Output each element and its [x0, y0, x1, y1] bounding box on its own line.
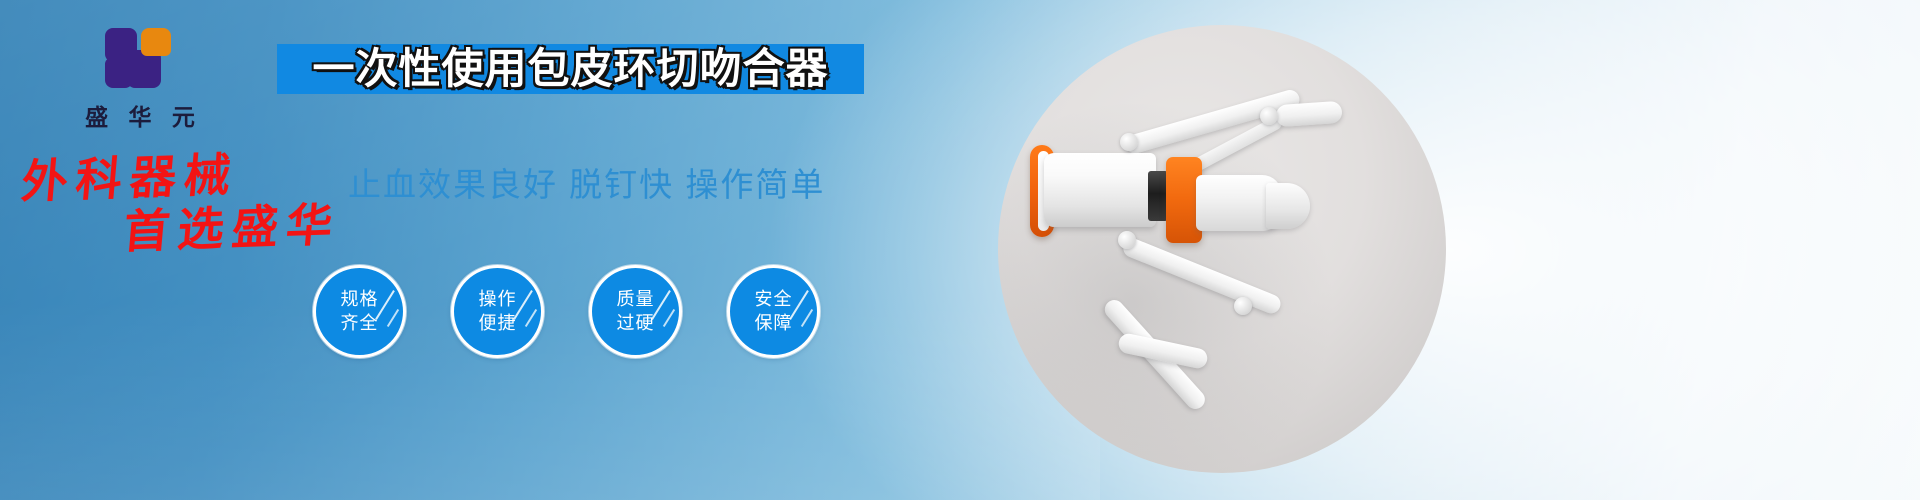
subheading: 止血效果良好 脱钉快 操作简单 — [348, 168, 825, 201]
slogan-line-1: 外科器械 — [20, 151, 241, 205]
product-photo — [998, 25, 1446, 473]
brand-logo[interactable]: 盛 华 元 — [70, 28, 210, 132]
page-title: 一次性使用包皮环切吻合器 — [312, 48, 828, 90]
device-tip — [1266, 183, 1310, 229]
feature-badge-line1: 安全 — [755, 288, 793, 312]
slogan-line-2: 首选盛华 — [122, 201, 343, 255]
feature-badge[interactable]: 操作 便捷 — [451, 265, 544, 358]
device-pivot — [1120, 133, 1138, 151]
brand-name: 盛 华 元 — [70, 98, 210, 132]
feature-badge[interactable]: 安全 保障 — [727, 265, 820, 358]
feature-badge[interactable]: 质量 过硬 — [589, 265, 682, 358]
feature-badge-line1: 操作 — [479, 288, 517, 312]
slash-decor-icon — [663, 309, 675, 327]
feature-badge-line2: 过硬 — [617, 312, 655, 336]
slash-decor-icon — [387, 309, 399, 327]
slash-decor-icon — [801, 309, 813, 327]
product-title-banner: 一次性使用包皮环切吻合器 — [277, 44, 864, 94]
device-pivot — [1234, 297, 1252, 315]
stapler-device-illustration — [998, 25, 1446, 473]
feature-badge-line2: 齐全 — [341, 312, 379, 336]
feature-badge-line2: 保障 — [755, 312, 793, 336]
feature-badge-line1: 规格 — [341, 288, 379, 312]
feature-badge-line1: 质量 — [617, 288, 655, 312]
feature-badge-list: 规格 齐全 操作 便捷 质量 过硬 安全 保障 — [313, 265, 820, 358]
device-barrel — [1044, 153, 1156, 227]
feature-badge[interactable]: 规格 齐全 — [313, 265, 406, 358]
device-upper-arm-tip — [1275, 101, 1342, 128]
device-lower-arm — [1120, 236, 1283, 317]
logo-shape-orange-square — [141, 28, 171, 56]
device-pivot — [1260, 107, 1278, 125]
feature-badge-line2: 便捷 — [479, 312, 517, 336]
logo-mark-icon — [105, 28, 175, 90]
slash-decor-icon — [525, 309, 537, 327]
device-dark-band — [1148, 171, 1168, 221]
device-pivot — [1118, 231, 1136, 249]
